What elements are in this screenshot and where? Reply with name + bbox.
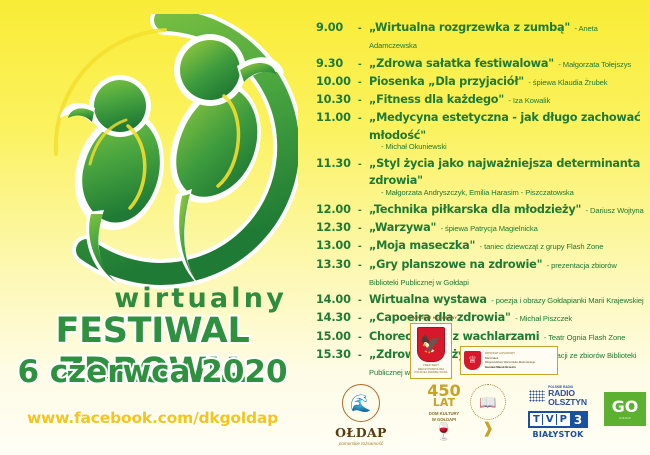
tvp-letter-v: V [544,414,557,425]
schedule-body: „Medycyna estetyczna - jak długo zachowa… [369,108,646,151]
poster-left-panel: wirtualny FESTIWAL ZDROWIA 6 czerwca 202… [0,0,305,455]
eagle-caption: PREZYDENT RZECZYPOSPOLITEJ POLSKIEJ ANDR… [412,364,450,375]
eagle-glyph: 🦅 [420,336,441,353]
schedule-row: 11.00 - „Medycyna estetyczna - jak długo… [316,108,646,151]
schedule-title: „Medycyna estetyczna - jak długo zachowa… [369,111,640,141]
schedule-dash: - [358,295,369,307]
polish-eagle-icon: 🦅 [417,327,445,362]
schedule-title: „Fitness dla każdego" [369,93,504,106]
schedule-title: „Moja maseczka" [369,239,475,252]
schedule-body: „Moja maseczka" - taniec dziewcząt z gru… [369,236,646,253]
go-text: GO [612,399,639,415]
goldap-town-logo: 🌊 OŁDAP pomorskie tożsamość [318,384,404,446]
schedule-row: 9.00 - „Wirtualna rozgrzewka z zumbą" - … [316,18,646,53]
schedule-row: 12.00 - „Technika piłkarska dla młodzież… [316,200,646,217]
schedule-person: - śpiewa Klaudia Żrubek [528,78,607,87]
schedule-title: „Gry planszowe na zdrowie" [369,258,542,271]
schedule-title: „Zdrowa sałatka festiwalowa" [369,57,554,70]
schedule-title: Piosenka „Dla przyjaciół" [369,75,524,88]
marshal-name: Gustaw Marek Brzezin [485,365,535,369]
marshal-line-2: Województwa Warmińsko-Mazurskiego [485,360,535,364]
go-badge: GO GOŁDAP [604,392,646,426]
goldap-wordmark: OŁDAP [318,425,404,440]
marshal-patronage-logo: ♕ PATRONAT HONOROWY Marszałek Województw… [460,346,558,375]
schedule-time: 13.00 [316,240,358,252]
schedule-person: - poezja i obrazy Gołdapianki Marii Kraj… [491,296,643,305]
schedule-row: 13.30 - „Gry planszowe na zdrowie" - pre… [316,255,646,290]
book-icon: 📖 [479,395,496,409]
schedule-row: 10.00 - Piosenka „Dla przyjaciół" - śpie… [316,72,646,89]
schedule-dash: - [358,159,369,171]
tvp3-logo: T V P 3 [528,411,588,428]
tvp-letters: T V P [530,413,570,426]
marshal-text-block: PATRONAT HONOROWY Marszałek Województwa … [485,352,535,369]
schedule-time: 11.00 [316,112,358,124]
schedule-row: 11.30 - „Styl życia jako najważniejsza d… [316,154,646,197]
schedule-row: 10.30 - „Fitness dla każdego" - Iza Kowa… [316,90,646,107]
schedule-dash: - [358,205,369,217]
schedule-body: „Technika piłkarska dla młodzieży" - Dar… [369,200,646,217]
schedule-person: - Dariusz Wojtyna [586,206,644,215]
schedule-dash: - [358,241,369,253]
poster-date: 6 czerwca 2020 [0,354,305,390]
schedule-dash: - [358,59,369,71]
schedule-row: 12.30 - „Warzywa" - śpiewa Patrycja Magi… [316,218,646,235]
snail-icon: 🌊 [350,395,371,412]
schedule-dash: - [358,223,369,235]
schedule-time: 13.30 [316,259,358,271]
schedule-dash: - [358,95,369,107]
tvp-channel-number: 3 [570,413,586,426]
schedule-row: 14.00 - Wirtualna wystawa - poezja i obr… [316,290,646,307]
schedule-time: 14.00 [316,294,358,306]
schedule-title: „Technika piłkarska dla młodzieży" [369,203,581,216]
schedule-time: 9.00 [316,22,358,34]
schedule-time: 10.30 [316,94,358,106]
schedule-dash: - [358,260,369,272]
schedule-row: 13.00 - „Moja maseczka" - taniec dziewcz… [316,236,646,253]
biblioteka-seal-icon: 📖 [470,384,506,420]
schedule-body: „Wirtualna rozgrzewka z zumbą" - Aneta A… [369,18,646,53]
warmia-masuria-crest-icon: ♕ [464,351,481,370]
schedule-title: „Wirtualna rozgrzewka z zumbą" [369,21,570,34]
schedule-person: - taniec dziewcząt z grupy Flash Zone [480,242,604,251]
schedule-title: Wirtualna wystawa [369,293,487,306]
media-partners-logos: POLSKIE RADIO RADIO OLSZTYN T V P 3 BIAŁ… [510,386,606,439]
festiwal-zdrowia-logo-icon [32,14,298,290]
olsztyn-label: OLSZTYN [548,398,587,407]
schedule-body: „Zdrowa sałatka festiwalowa" - Małgorzat… [369,54,646,71]
schedule-person: - Michał Okuniewski [369,143,646,151]
radio-dots-icon [529,390,545,402]
schedule-time: 9.30 [316,58,358,70]
tvp-letter-p: P [558,414,569,425]
sponsor-logos-area: PATRONAT HONOROWY 🦅 PREZYDENT RZECZYPOSP… [310,316,650,455]
radio-olsztyn-text: POLSKIE RADIO RADIO OLSZTYN [548,386,587,406]
radio-olsztyn-logo: POLSKIE RADIO RADIO OLSZTYN [510,386,606,406]
schedule-title: „Styl życia jako najważniejsza determina… [369,157,640,187]
schedule-body: „Fitness dla każdego" - Iza Kowalik [369,90,646,107]
schedule-time: 11.30 [316,158,358,170]
schedule-body: Piosenka „Dla przyjaciół" - śpiewa Klaud… [369,72,646,89]
schedule-row: 9.30 - „Zdrowa sałatka festiwalowa" - Ma… [316,54,646,71]
poster-subtitle: wirtualny [0,283,287,314]
schedule-dash: - [358,77,369,89]
schedule-title: „Warzywa" [369,221,436,234]
president-patronage-logo: 🦅 PREZYDENT RZECZYPOSPOLITEJ POLSKIEJ AN… [410,323,452,379]
patronat-label: PATRONAT HONOROWY [410,316,457,320]
tvp-letter-t: T [531,414,543,425]
schedule-time: 12.30 [316,222,358,234]
go-subtext: GOŁDAP [619,416,631,420]
schedule-body: „Gry planszowe na zdrowie" - prezentacja… [369,255,646,290]
go-logo: GO GOŁDAP [602,392,648,426]
goldap-tagline: pomorskie tożsamość [318,441,404,446]
schedule-body: Wirtualna wystawa - poezja i obrazy Gołd… [369,290,646,307]
goldap-seal-icon: 🌊 [342,384,380,422]
schedule-person: - Iza Kowalik [508,96,550,105]
schedule-time: 10.00 [316,76,358,88]
schedule-body: „Styl życia jako najważniejsza determina… [369,154,646,197]
schedule-person: - Małgorzata Andryszczyk, Emilia Harasim… [369,189,646,197]
schedule-time: 12.00 [316,204,358,216]
schedule-person: - śpiewa Patrycja Magielnicka [441,224,538,233]
tvp-city-label: BIAŁYSTOK [510,430,606,439]
schedule-person: - Małgorzata Tołejszys [558,60,631,69]
schedule-body: „Warzywa" - śpiewa Patrycja Magielnicka [369,218,646,235]
facebook-url[interactable]: www.facebook.com/dkgoldap [0,409,305,427]
schedule-dash: - [358,113,369,125]
schedule-dash: - [358,23,369,35]
